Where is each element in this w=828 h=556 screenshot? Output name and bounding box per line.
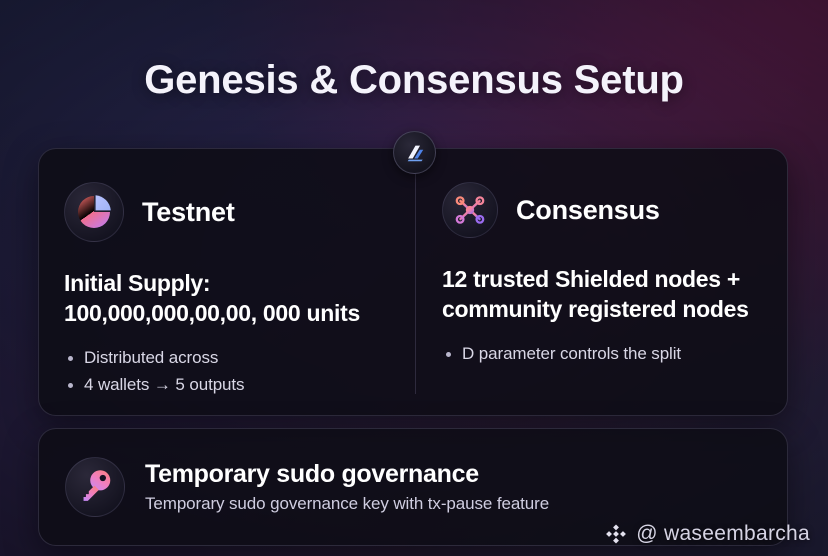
consensus-column: Consensus 12 trusted Shielded nodes + co…: [416, 148, 788, 416]
testnet-bullet-list: Distributed across 4 wallets → 5 outputs: [64, 345, 389, 399]
diamond-cluster-icon: [605, 523, 627, 545]
key-icon: [65, 457, 125, 517]
consensus-header: Consensus: [442, 182, 762, 238]
network-nodes-icon: [442, 182, 498, 238]
consensus-lead-line1: 12 trusted Shielded nodes +: [442, 264, 762, 294]
slide-root: Genesis & Consensus Setup: [0, 0, 828, 556]
consensus-bullet-list: D parameter controls the split: [442, 341, 762, 368]
list-item: D parameter controls the split: [442, 341, 762, 368]
governance-subtitle: Temporary sudo governance key with tx-pa…: [145, 494, 549, 514]
testnet-heading: Testnet: [142, 197, 235, 228]
page-title: Genesis & Consensus Setup: [0, 58, 828, 103]
list-item: 4 wallets → 5 outputs: [64, 372, 389, 399]
consensus-lead-line2: community registered nodes: [442, 294, 762, 324]
watermark: @ waseembarcha: [605, 522, 810, 546]
testnet-supply-value: 100,000,000,00,00, 000 units: [64, 298, 389, 328]
testnet-header: Testnet: [64, 182, 389, 242]
testnet-column: Testnet Initial Supply: 100,000,000,00,0…: [38, 148, 415, 416]
list-item: Distributed across: [64, 345, 389, 372]
pie-chart-icon: [64, 182, 124, 242]
governance-title: Temporary sudo governance: [145, 460, 549, 489]
stacked-slash-logo-icon: [404, 142, 426, 164]
consensus-heading: Consensus: [516, 195, 660, 226]
brand-badge: [393, 131, 436, 174]
watermark-handle: @ waseembarcha: [636, 522, 810, 546]
testnet-supply-label: Initial Supply:: [64, 268, 389, 298]
